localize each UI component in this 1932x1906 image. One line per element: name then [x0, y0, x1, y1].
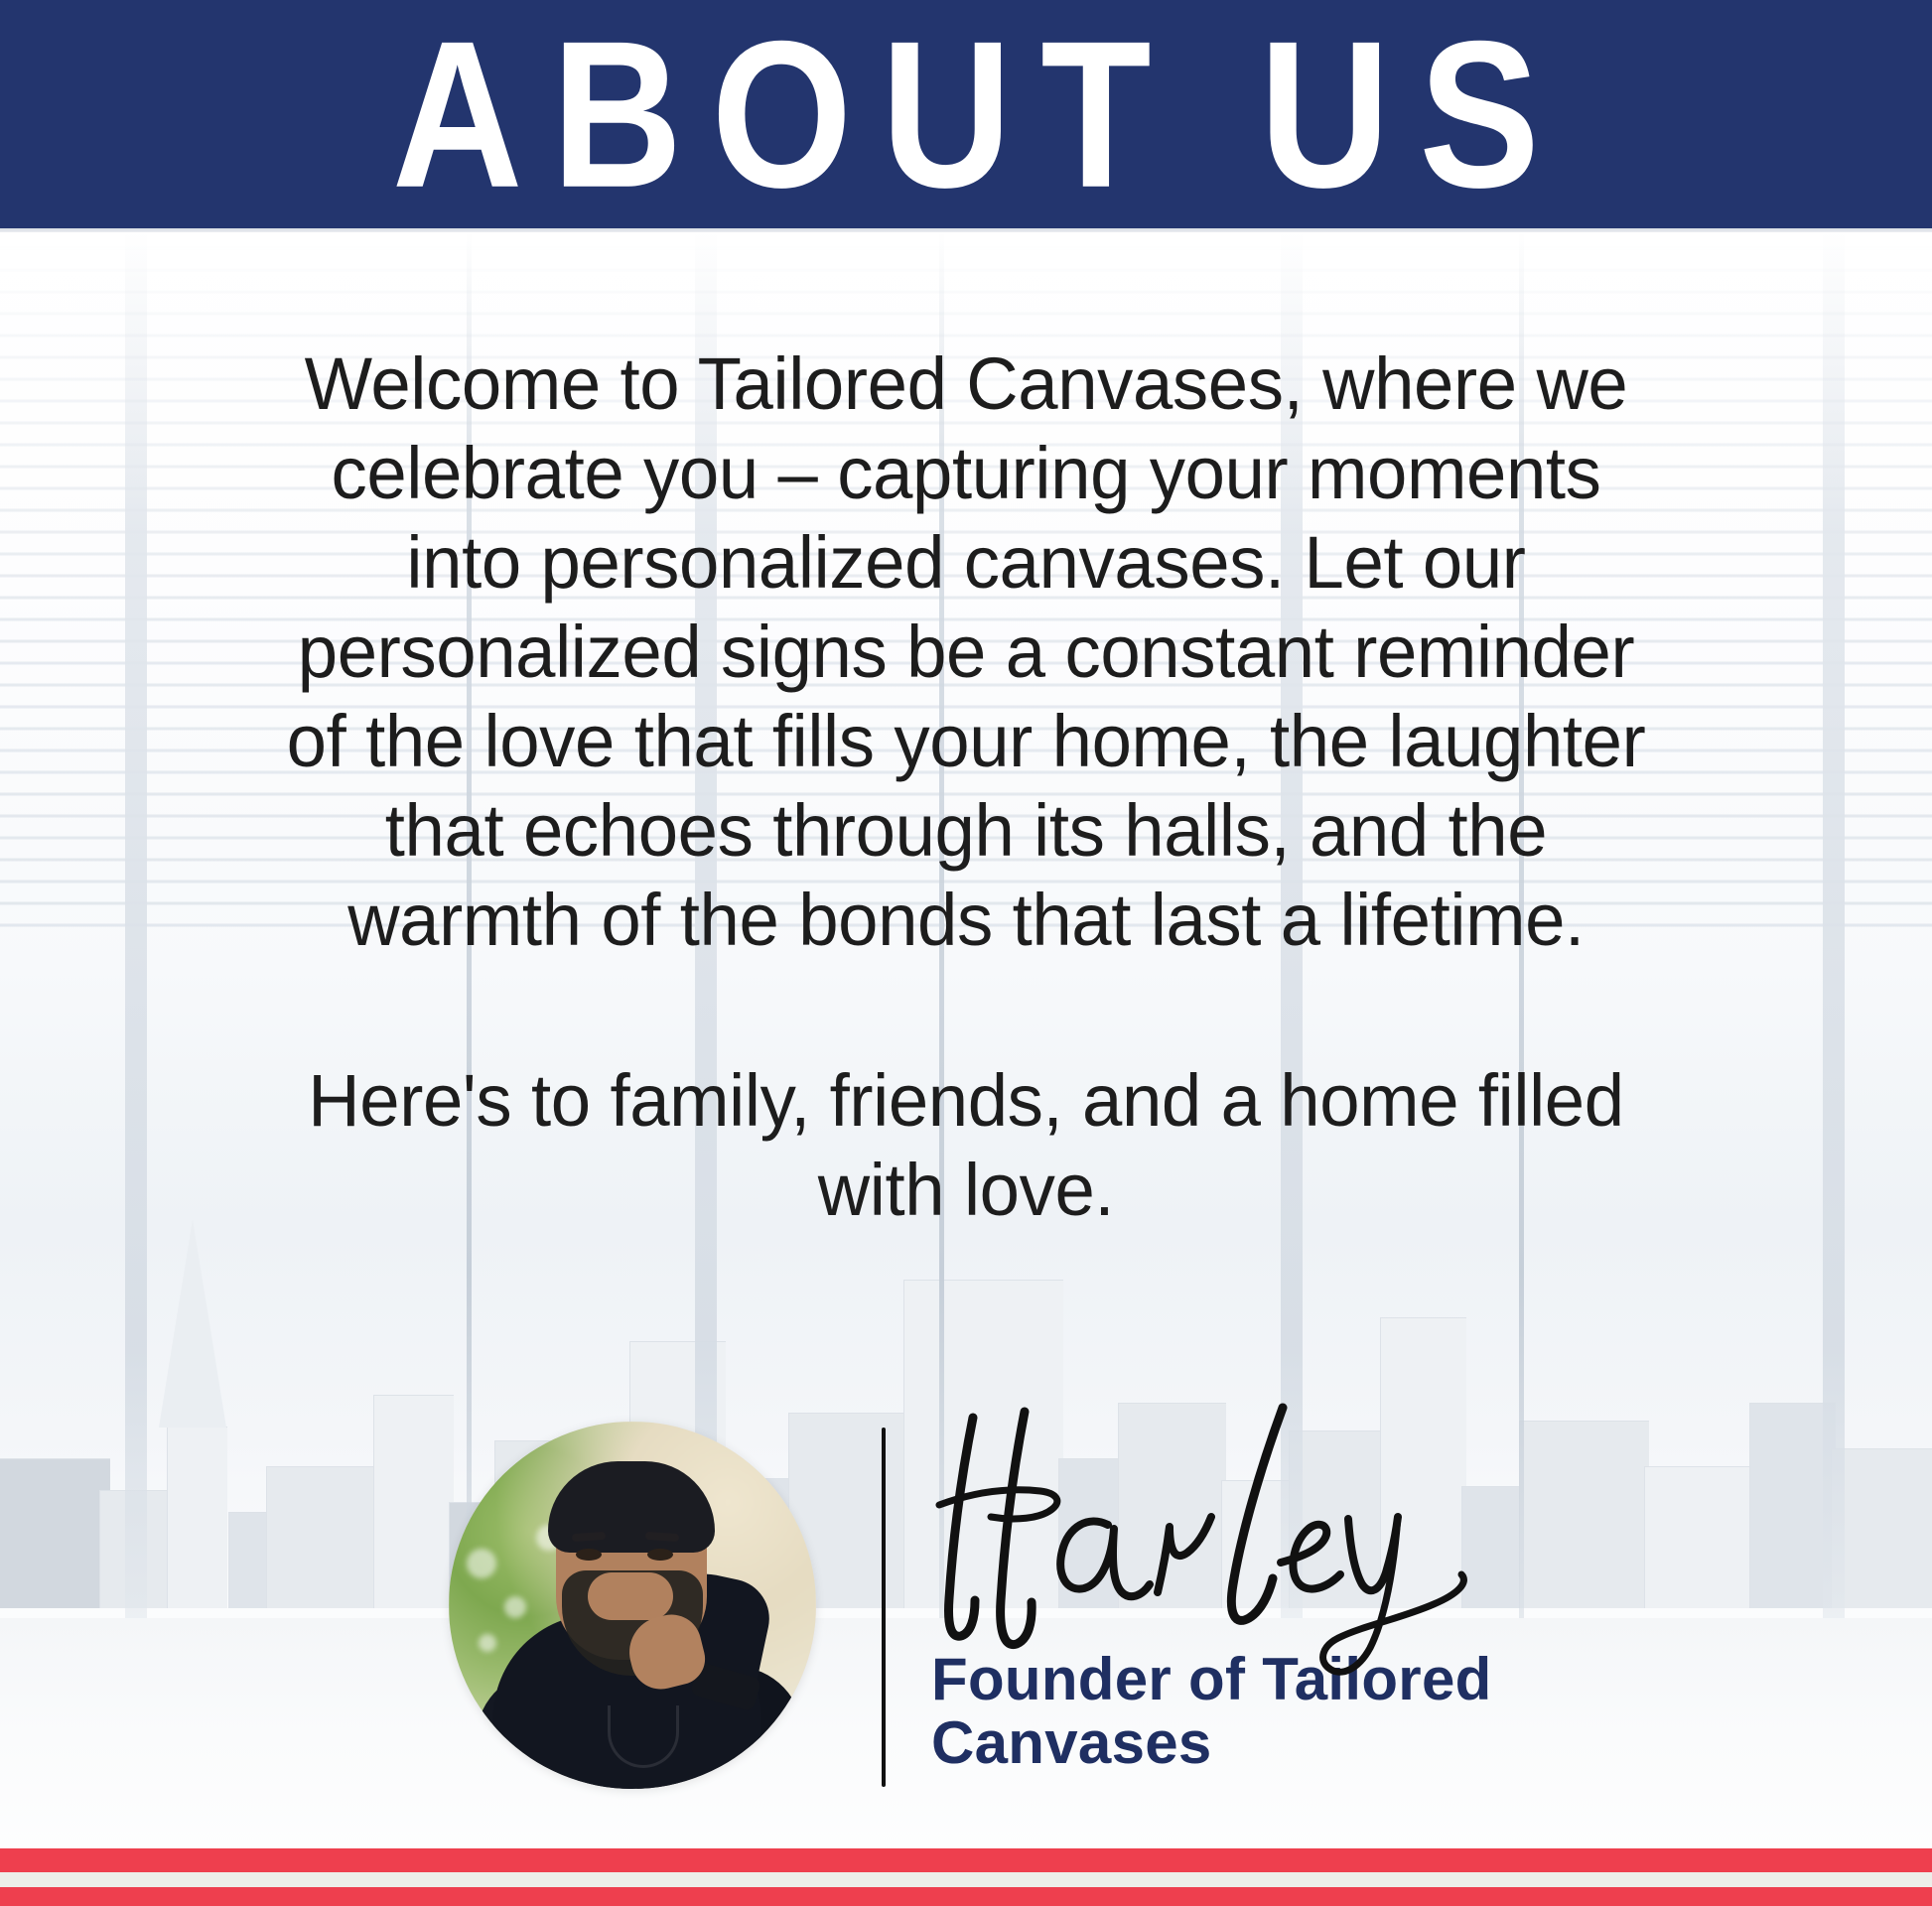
avatar-face-lower [588, 1572, 673, 1620]
footer-stripe-top [0, 1848, 1932, 1872]
header-banner: ABOUT US [0, 0, 1932, 228]
page-title: ABOUT US [363, 10, 1569, 219]
about-paragraph-1: Welcome to Tailored Canvases, where we c… [275, 340, 1657, 965]
avatar-eye-left [576, 1549, 602, 1561]
founder-role-line-2: Canvases [931, 1711, 1567, 1775]
founder-avatar [449, 1422, 816, 1789]
signature-divider [882, 1428, 886, 1787]
footer-stripe-gap [0, 1872, 1932, 1887]
header-underline [0, 228, 1932, 232]
about-us-poster: ABOUT US Welcome to Tailored Canvases, w… [0, 0, 1932, 1906]
founder-signature [913, 1388, 1549, 1686]
about-copy: Welcome to Tailored Canvases, where we c… [261, 340, 1671, 1235]
about-paragraph-2: Here's to family, friends, and a home fi… [275, 1056, 1657, 1235]
avatar-eye-right [647, 1549, 673, 1561]
footer-stripe-bottom [0, 1887, 1932, 1906]
